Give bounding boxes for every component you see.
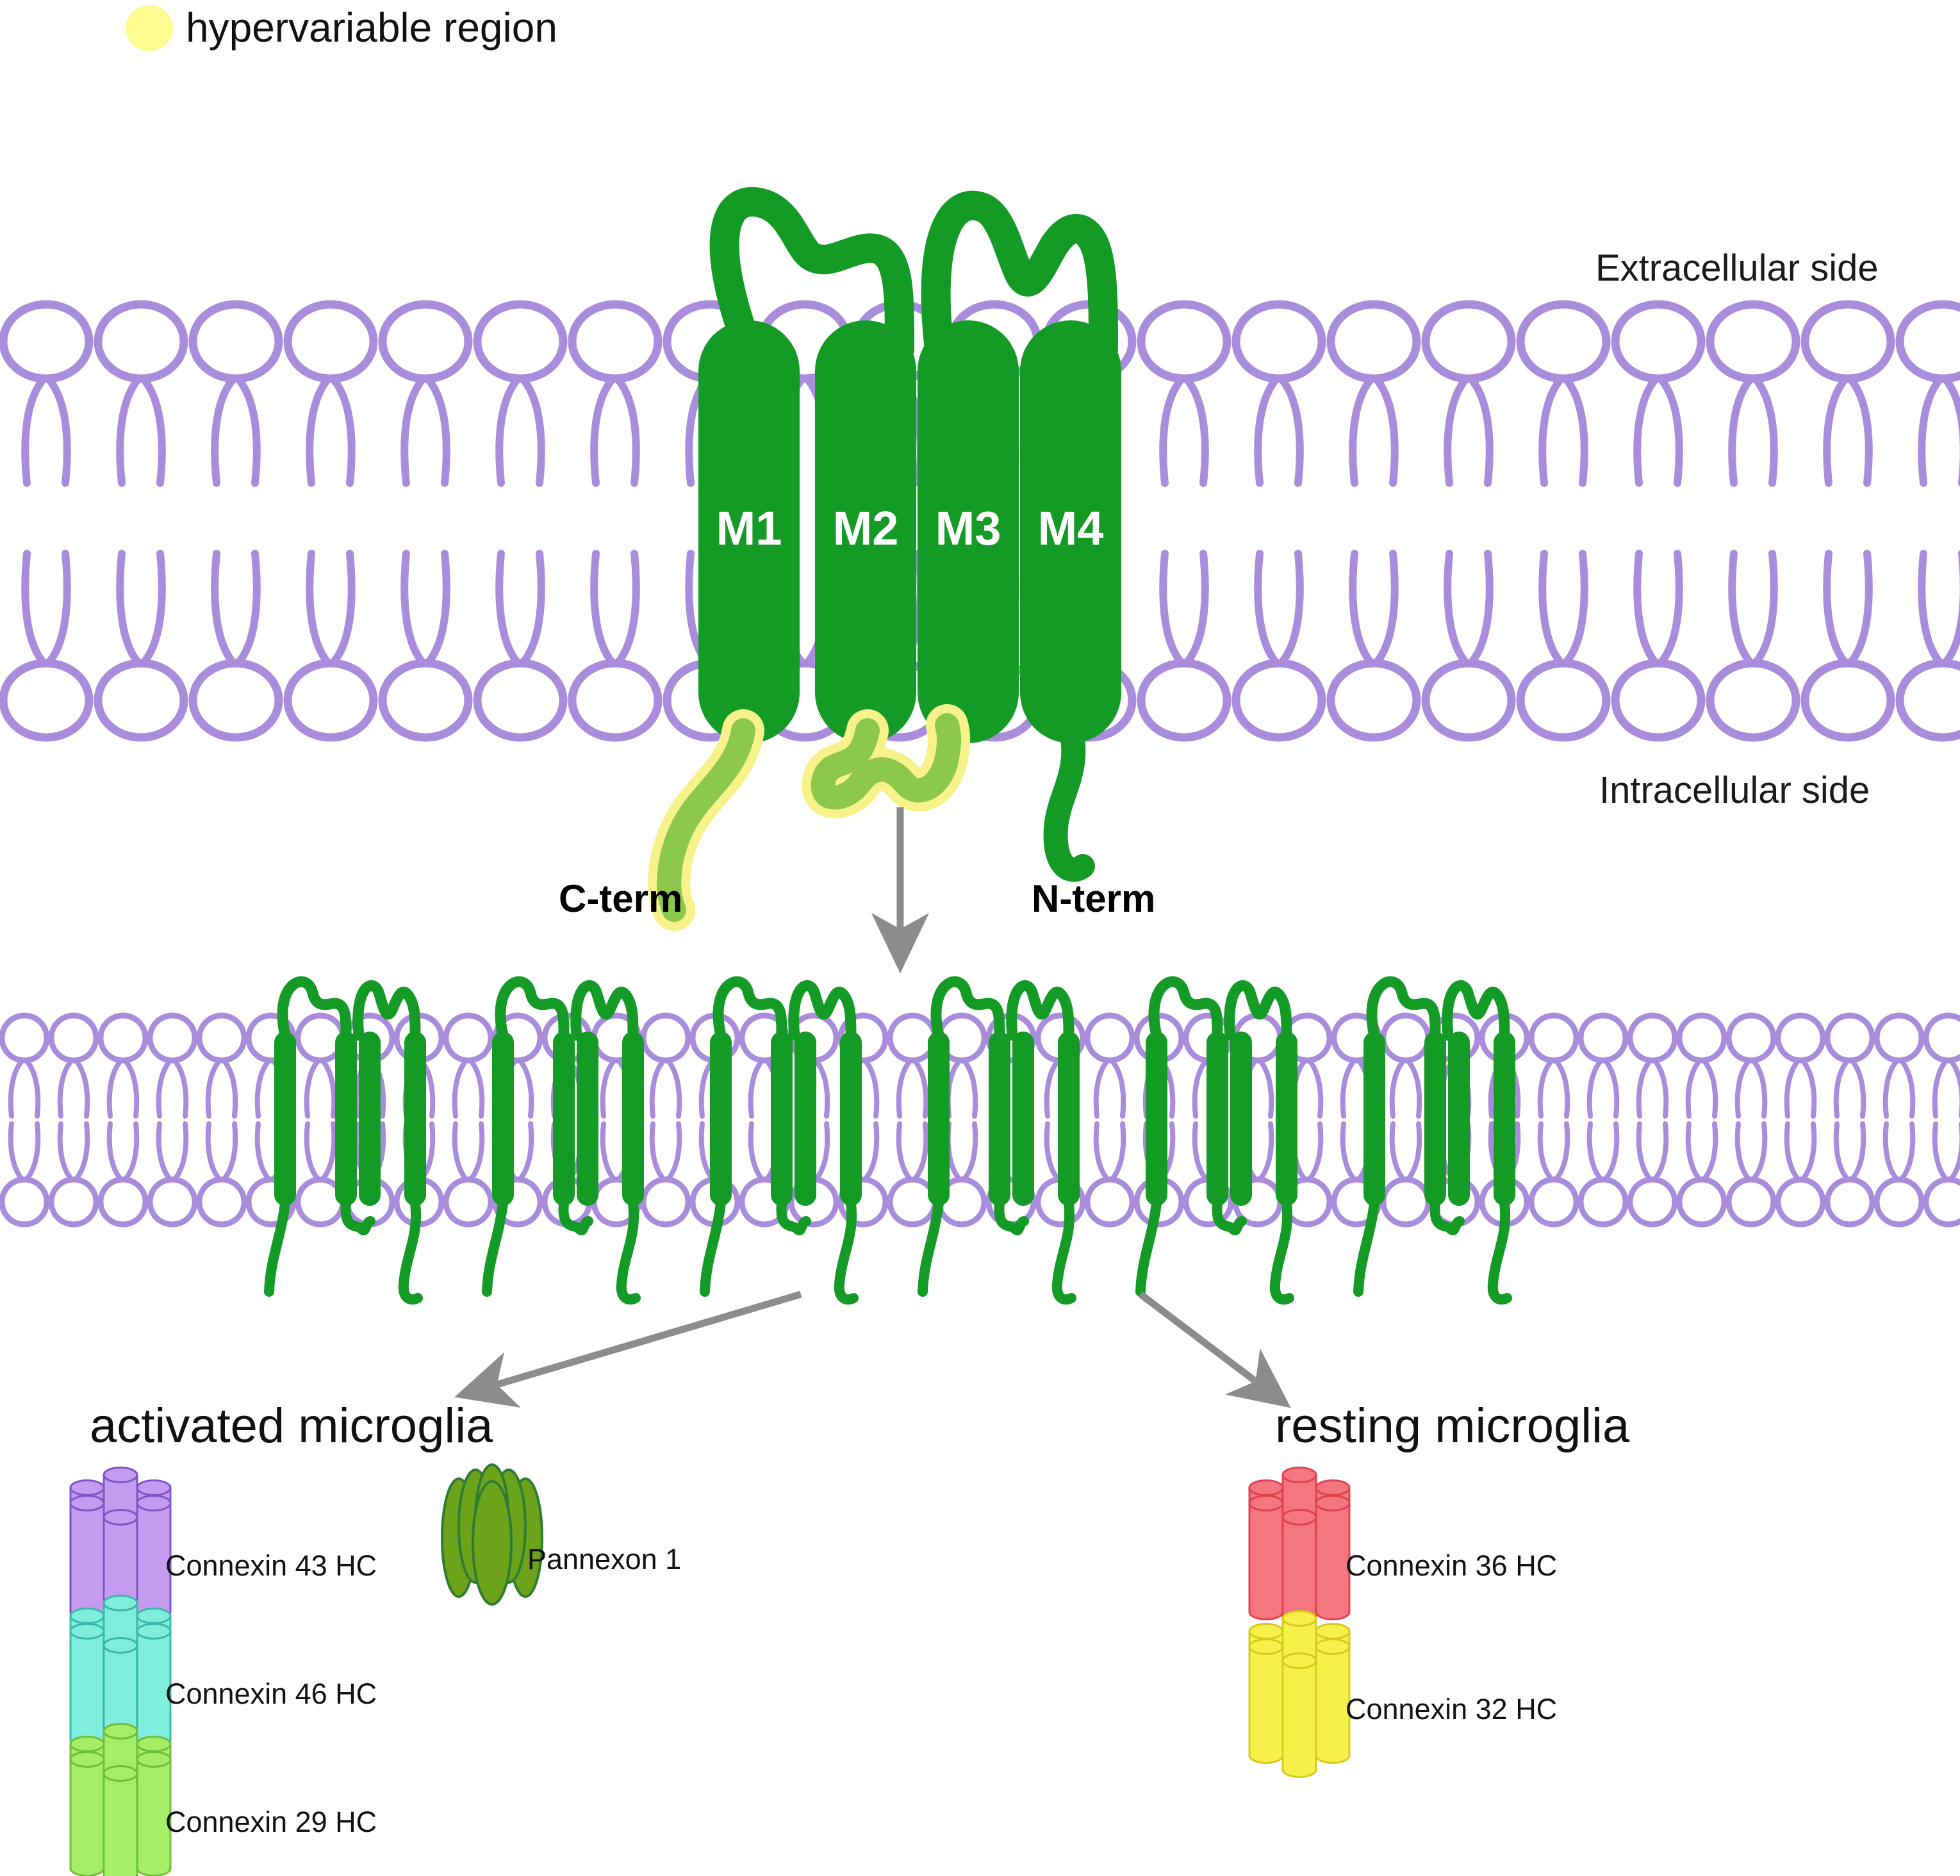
connexin-32-hemichannel bbox=[1249, 1611, 1349, 1777]
connexin-43-label: Connexin 43 HC bbox=[165, 1549, 377, 1583]
n-term-label: N-term bbox=[1032, 876, 1155, 921]
resting-microglia-heading: resting microglia bbox=[1275, 1398, 1629, 1454]
diagram-canvas: M1 M2 M3 M4 hypervariable region Extrace… bbox=[0, 0, 1960, 1876]
c-term-label: C-term bbox=[559, 876, 682, 921]
connexin-46-label: Connexin 46 HC bbox=[165, 1677, 377, 1711]
helix-label-m3: M3 bbox=[935, 502, 1001, 555]
helix-label-m4: M4 bbox=[1038, 502, 1104, 555]
connexin-32-label: Connexin 32 HC bbox=[1346, 1693, 1557, 1726]
pannexon-1-channel bbox=[442, 1465, 542, 1604]
helix-label-m1: M1 bbox=[716, 502, 782, 555]
connexin-36-label: Connexin 36 HC bbox=[1346, 1549, 1557, 1583]
intracellular-side-label: Intracellular side bbox=[1599, 769, 1870, 812]
arrow-to-activated bbox=[477, 1294, 801, 1390]
hypervariable-region-swatch bbox=[126, 5, 173, 51]
extracellular-side-label: Extracellular side bbox=[1595, 247, 1879, 290]
helix-label-m2: M2 bbox=[833, 502, 899, 555]
transmembrane-protein bbox=[669, 202, 1121, 910]
arrow-to-resting bbox=[1141, 1294, 1272, 1394]
pannexon-1-label: Pannexon 1 bbox=[527, 1543, 681, 1576]
legend-label: hypervariable region bbox=[186, 0, 557, 55]
connexin-36-hemichannel bbox=[1249, 1468, 1349, 1634]
connexin-29-hemichannel bbox=[70, 1724, 170, 1876]
activated-microglia-heading: activated microglia bbox=[90, 1398, 493, 1454]
n-term-tail bbox=[1056, 730, 1083, 869]
connexin-29-label: Connexin 29 HC bbox=[165, 1806, 377, 1839]
